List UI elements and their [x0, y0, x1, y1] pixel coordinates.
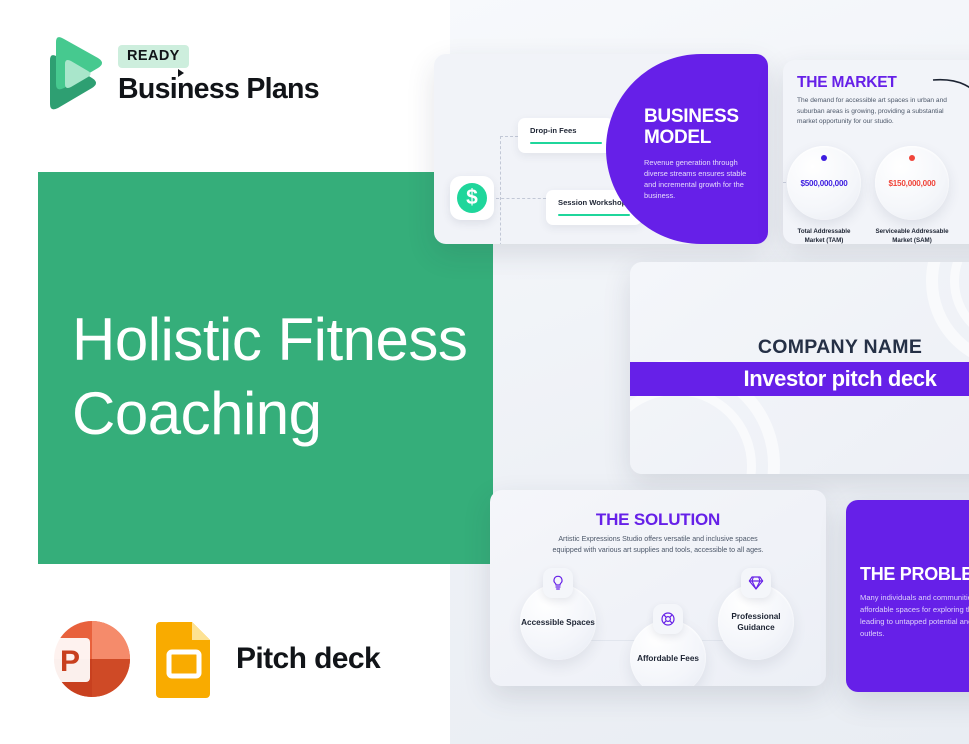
- lifebuoy-icon: [653, 604, 683, 634]
- curved-arrow-icon: [931, 76, 969, 116]
- google-slides-icon: [154, 620, 214, 698]
- market-title: THE MARKET: [797, 74, 897, 92]
- metric-value: $500,000,000: [800, 179, 847, 188]
- problem-body: Many individuals and communities lack ac…: [860, 592, 969, 640]
- poster-canvas: READY Business Plans Holistic Fitness Co…: [0, 0, 969, 744]
- solution-node[interactable]: Professional Guidance: [718, 584, 794, 660]
- brand-lockup[interactable]: READY Business Plans: [38, 34, 319, 112]
- play-accent-icon: [178, 69, 184, 77]
- powerpoint-icon: P: [40, 618, 132, 700]
- lightbulb-icon: [543, 568, 573, 598]
- investor-pitch-bar: Investor pitch deck: [630, 362, 969, 396]
- play-chevron-logo-icon: [38, 34, 104, 112]
- solution-node-label: Accessible Spaces: [521, 617, 595, 628]
- chip-underline: [558, 214, 630, 216]
- dollar-icon: $: [457, 183, 487, 213]
- slide-company-name[interactable]: COMPANY NAME Investor pitch deck: [630, 262, 969, 474]
- revenue-chip[interactable]: Drop-in Fees: [518, 118, 614, 153]
- metric-dot: [821, 155, 827, 161]
- brand-wordmark: Business Plans: [118, 75, 319, 104]
- investor-pitch-label: Investor pitch deck: [744, 366, 937, 392]
- format-label: Pitch deck: [236, 642, 380, 676]
- solution-title: THE SOLUTION: [490, 510, 826, 530]
- svg-text:P: P: [60, 645, 80, 678]
- connector-vertical: [500, 136, 501, 244]
- slide-market[interactable]: THE MARKET The demand for accessible art…: [783, 60, 969, 244]
- format-row: P Pitch deck: [40, 618, 380, 700]
- solution-nodes: Accessible Spaces Affordable Fees: [520, 578, 796, 678]
- solution-body: Artistic Expressions Studio offers versa…: [552, 534, 764, 556]
- metric-caption: Total Addressable Market (TAM): [787, 227, 861, 244]
- solution-node-label: Affordable Fees: [637, 653, 699, 664]
- market-metrics: $500,000,000 Total Addressable Market (T…: [787, 146, 949, 244]
- slide-business-model[interactable]: $ Drop-in Fees Session Workshops Commiss…: [434, 54, 768, 244]
- revenue-chip-label: Drop-in Fees: [530, 126, 602, 135]
- connector-top: [500, 136, 518, 137]
- company-name-heading: COMPANY NAME: [630, 336, 969, 359]
- slide-solution[interactable]: THE SOLUTION Artistic Expressions Studio…: [490, 490, 826, 686]
- connector-middle: [496, 198, 546, 199]
- dollar-icon-box: $: [450, 176, 494, 220]
- metric-dot: [909, 155, 915, 161]
- metric-value: $150,000,000: [888, 179, 935, 188]
- chip-underline: [530, 142, 602, 144]
- revenue-chip-label: Session Workshops: [558, 198, 630, 207]
- brand-wordmark-text: Business Plans: [118, 73, 319, 105]
- market-metric: $150,000,000 Serviceable Addressable Mar…: [875, 146, 949, 244]
- diamond-icon: [741, 568, 771, 598]
- business-model-title: BUSINESS MODEL: [644, 106, 758, 148]
- slide-problem[interactable]: THE PROBLEM Many individuals and communi…: [846, 500, 969, 692]
- hero-title: Holistic Fitness Coaching: [72, 303, 492, 451]
- brand-text-block: READY Business Plans: [118, 43, 319, 104]
- problem-title: THE PROBLEM: [860, 564, 969, 585]
- business-model-body: Revenue generation through diverse strea…: [644, 157, 756, 201]
- business-model-text-block: BUSINESS MODEL Revenue generation throug…: [644, 106, 758, 201]
- market-metric: $500,000,000 Total Addressable Market (T…: [787, 146, 861, 244]
- solution-node[interactable]: Accessible Spaces: [520, 584, 596, 660]
- ready-badge: READY: [118, 45, 189, 69]
- solution-node-label: Professional Guidance: [718, 611, 794, 633]
- metric-caption: Serviceable Addressable Market (SAM): [875, 227, 949, 244]
- solution-node[interactable]: Affordable Fees: [630, 620, 706, 686]
